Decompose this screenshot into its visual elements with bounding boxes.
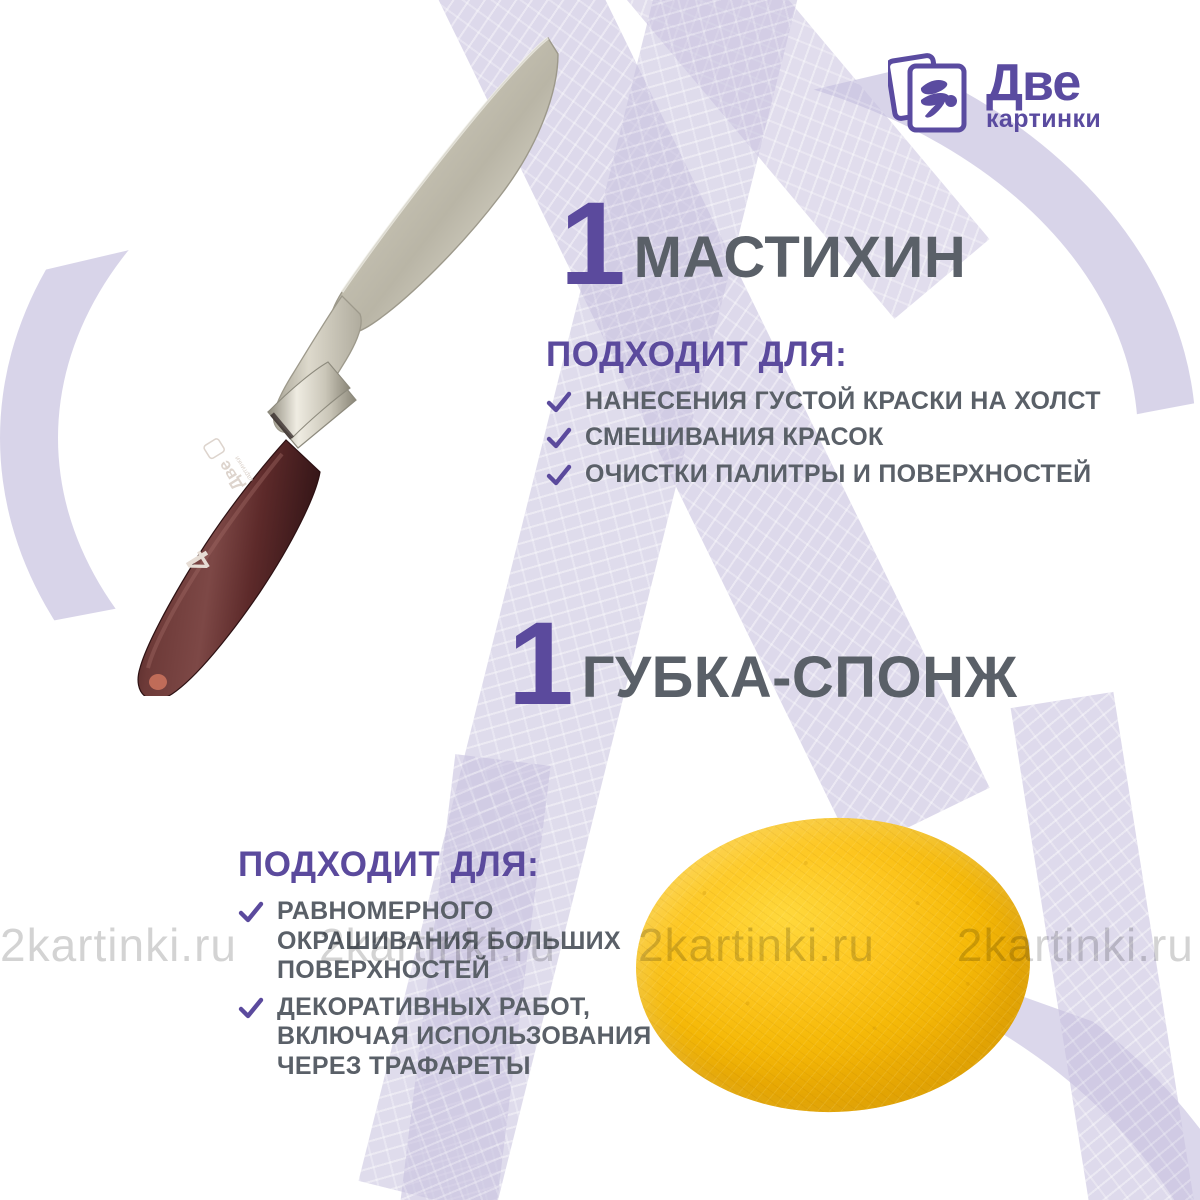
list-item: НАНЕСЕНИЯ ГУСТОЙ КРАСКИ НА ХОЛСТ: [546, 387, 1101, 417]
check-icon: [238, 900, 264, 926]
check-icon: [546, 426, 572, 452]
list-item: РАВНОМЕРНОГО ОКРАШИВАНИЯ БОЛЬШИХ ПОВЕРХН…: [238, 897, 668, 986]
list-item-label: СМЕШИВАНИЯ КРАСОК: [585, 423, 884, 453]
brand-title: Две: [986, 59, 1101, 107]
section-palette-knife: 1 МАСТИХИН ПОДХОДИТ ДЛЯ: НАНЕСЕНИЯ ГУСТО…: [560, 196, 1101, 496]
list-item: ДЕКОРАТИВНЫХ РАБОТ, ВКЛЮЧАЯ ИСПОЛЬЗОВАНИ…: [238, 993, 668, 1082]
knife-blade: [330, 38, 558, 334]
brand-subtitle: картинки: [986, 108, 1101, 131]
brand-logo-text: Две картинки: [986, 59, 1101, 131]
infographic-canvas: Две картинки 4 1 МАСТИХИН ПОДХОДИТ ДЛЯ: …: [0, 0, 1200, 1200]
fits-block-sponge: ПОДХОДИТ ДЛЯ: РАВНОМЕРНОГО ОКРАШИВАНИЯ Б…: [238, 845, 668, 1088]
handle-hang-hole: [149, 674, 167, 690]
section-number: 1: [508, 616, 572, 713]
two-pictures-cards-icon: [888, 52, 970, 138]
check-icon: [546, 390, 572, 416]
brand-logo: Две картинки: [888, 52, 1101, 138]
list-item: СМЕШИВАНИЯ КРАСОК: [546, 423, 1101, 453]
benefit-list: НАНЕСЕНИЯ ГУСТОЙ КРАСКИ НА ХОЛСТ СМЕШИВА…: [546, 387, 1101, 490]
list-item-label: РАВНОМЕРНОГО ОКРАШИВАНИЯ БОЛЬШИХ ПОВЕРХН…: [277, 897, 668, 986]
fits-block: ПОДХОДИТ ДЛЯ: НАНЕСЕНИЯ ГУСТОЙ КРАСКИ НА…: [546, 335, 1101, 490]
section-title: 1 МАСТИХИН: [560, 196, 1101, 293]
list-item-label: ДЕКОРАТИВНЫХ РАБОТ, ВКЛЮЧАЯ ИСПОЛЬЗОВАНИ…: [277, 993, 668, 1082]
section-number: 1: [560, 196, 624, 293]
check-icon: [546, 463, 572, 489]
benefit-list: РАВНОМЕРНОГО ОКРАШИВАНИЯ БОЛЬШИХ ПОВЕРХН…: [238, 897, 668, 1081]
list-item-label: НАНЕСЕНИЯ ГУСТОЙ КРАСКИ НА ХОЛСТ: [585, 387, 1101, 417]
fits-for-label: ПОДХОДИТ ДЛЯ:: [238, 845, 668, 885]
list-item: ОЧИСТКИ ПАЛИТРЫ И ПОВЕРХНОСТЕЙ: [546, 460, 1101, 490]
list-item-label: ОЧИСТКИ ПАЛИТРЫ И ПОВЕРХНОСТЕЙ: [585, 460, 1091, 490]
check-icon: [238, 996, 264, 1022]
fits-for-label: ПОДХОДИТ ДЛЯ:: [546, 335, 1101, 375]
section-product-name: ГУБКА-СПОНЖ: [582, 649, 1018, 713]
section-product-name: МАСТИХИН: [634, 229, 967, 293]
section-title: 1 ГУБКА-СПОНЖ: [508, 616, 1017, 713]
palette-knife-photo: Две картинки 4: [96, 16, 616, 696]
handle-brand-imprint: Две картинки: [202, 432, 255, 493]
section-sponge: 1 ГУБКА-СПОНЖ: [508, 616, 1017, 713]
